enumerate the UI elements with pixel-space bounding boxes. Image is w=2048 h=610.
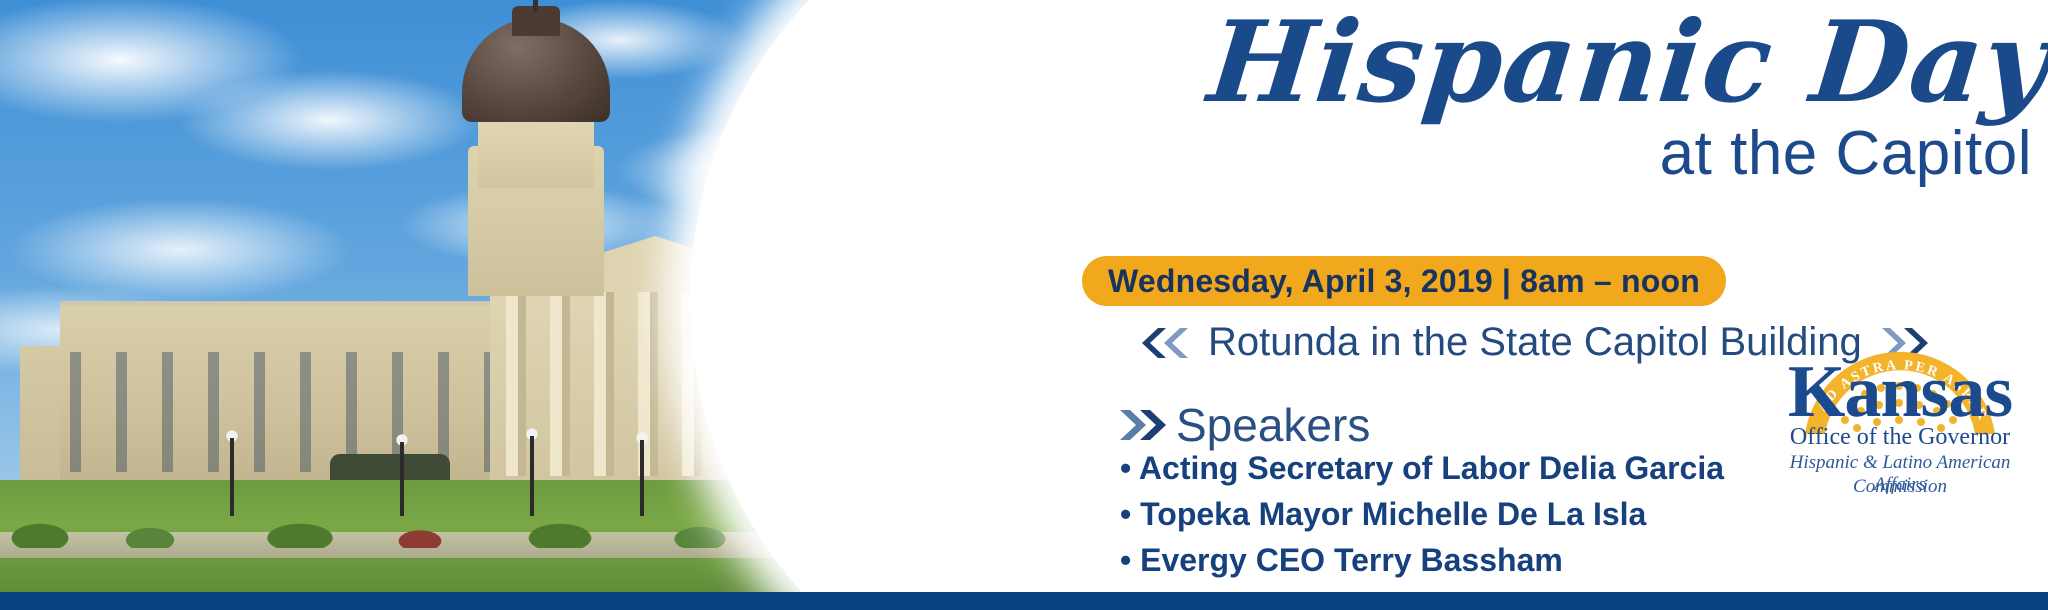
page-title-subtitle: at the Capitol [870, 118, 2032, 189]
speakers-heading-row: Speakers [1118, 398, 1370, 452]
bottom-accent-bar [0, 592, 2048, 610]
kansas-wordmark: Kansas [1765, 350, 2035, 435]
speakers-list: Acting Secretary of Labor Delia Garcia T… [1120, 452, 1724, 590]
kansas-governor-logo: AD ASTRA PER ASPERA [1765, 316, 2035, 566]
list-item: Acting Secretary of Labor Delia Garcia [1120, 452, 1724, 486]
speakers-heading-label: Speakers [1176, 398, 1370, 452]
capitol-spire [533, 0, 538, 12]
list-item: Evergy CEO Terry Bassham [1120, 544, 1724, 578]
chevron-double-left-icon [1132, 326, 1192, 360]
event-date-badge: Wednesday, April 3, 2019 | 8am – noon [1082, 256, 1726, 306]
page-title-script: Hispanic Day [864, 6, 2048, 120]
hispanic-day-banner: Hispanic Day at the Capitol Wednesday, A… [0, 0, 2048, 610]
chevron-double-right-icon-speakers [1118, 407, 1172, 443]
logo-office-line: Office of the Governor [1765, 424, 2035, 451]
list-item: Topeka Mayor Michelle De La Isla [1120, 498, 1724, 532]
event-location-label: Rotunda in the State Capitol Building [1208, 320, 1862, 365]
banner-content: Hispanic Day at the Capitol Wednesday, A… [1060, 0, 2048, 592]
logo-commission-line-2: Commission [1765, 476, 2035, 498]
